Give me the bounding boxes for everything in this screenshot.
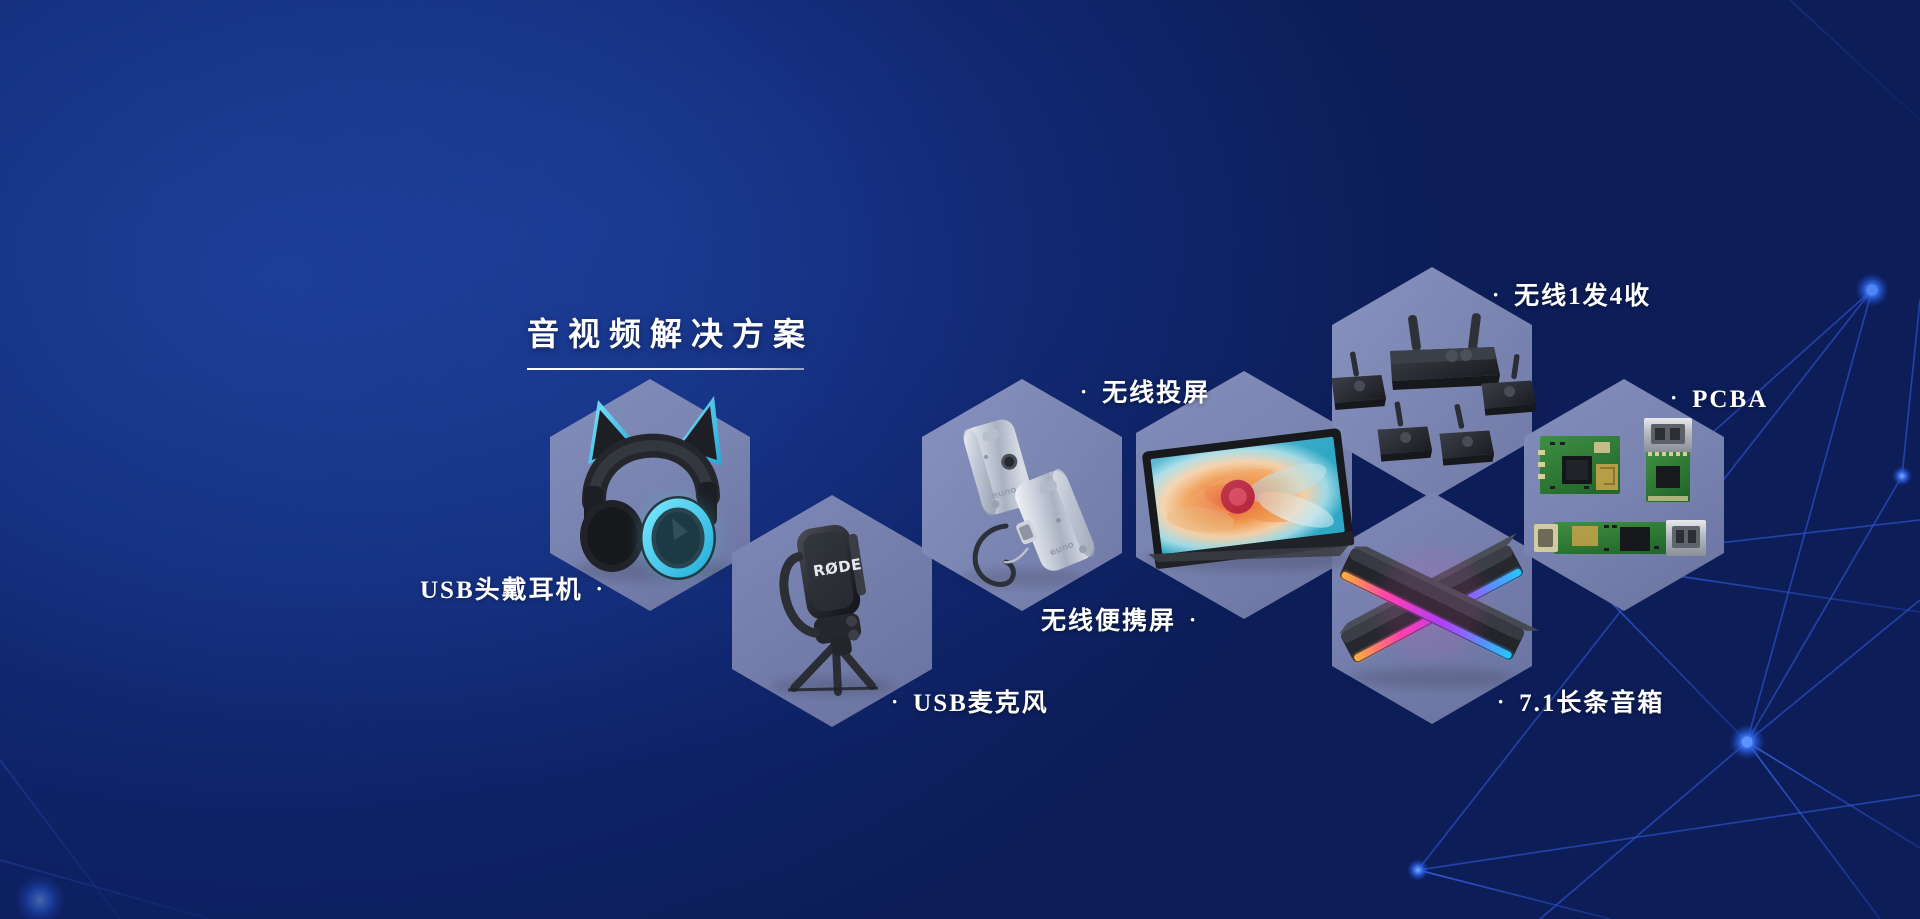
bullet-dot-icon: ·: [1492, 282, 1514, 307]
bullet-dot-icon: ·: [1497, 689, 1519, 714]
label-pcba-text: PCBA: [1692, 386, 1768, 413]
label-usb-headset-text: USB头戴耳机: [420, 577, 583, 604]
label-usb-headset[interactable]: USB头戴耳机 ·: [420, 578, 605, 603]
label-wireless-cast-text: 无线投屏: [1102, 380, 1210, 407]
label-usb-microphone[interactable]: · USB麦克风: [891, 691, 1049, 716]
bullet-dot-icon: ·: [1176, 607, 1198, 632]
label-pcba[interactable]: · PCBA: [1670, 387, 1768, 412]
label-wireless-1t4r[interactable]: · 无线1发4收: [1492, 284, 1651, 309]
portable-monitor-icon: [1142, 428, 1355, 571]
label-portable-screen-text: 无线便携屏: [1041, 608, 1176, 635]
circuit-board-icon: [1534, 418, 1706, 556]
bullet-dot-icon: ·: [1080, 379, 1102, 404]
hexagon-cluster: RØDE euno: [0, 0, 1920, 919]
bullet-dot-icon: ·: [1670, 385, 1692, 410]
label-portable-screen[interactable]: 无线便携屏 ·: [1041, 609, 1198, 634]
label-soundbar-text: 7.1长条音箱: [1519, 690, 1664, 717]
banner-stage: RØDE euno: [0, 0, 1920, 919]
label-soundbar[interactable]: · 7.1长条音箱: [1497, 691, 1664, 716]
label-usb-microphone-text: USB麦克风: [913, 690, 1049, 717]
page-title: 音视频解决方案: [527, 318, 814, 370]
label-wireless-1t4r-text: 无线1发4收: [1514, 283, 1651, 310]
hex-pcba: [1524, 379, 1724, 611]
title-underline: [527, 368, 804, 370]
page-title-text: 音视频解决方案: [527, 318, 814, 350]
bullet-dot-icon: ·: [891, 689, 913, 714]
bullet-dot-icon: ·: [583, 576, 605, 601]
label-wireless-cast[interactable]: · 无线投屏: [1080, 381, 1210, 406]
